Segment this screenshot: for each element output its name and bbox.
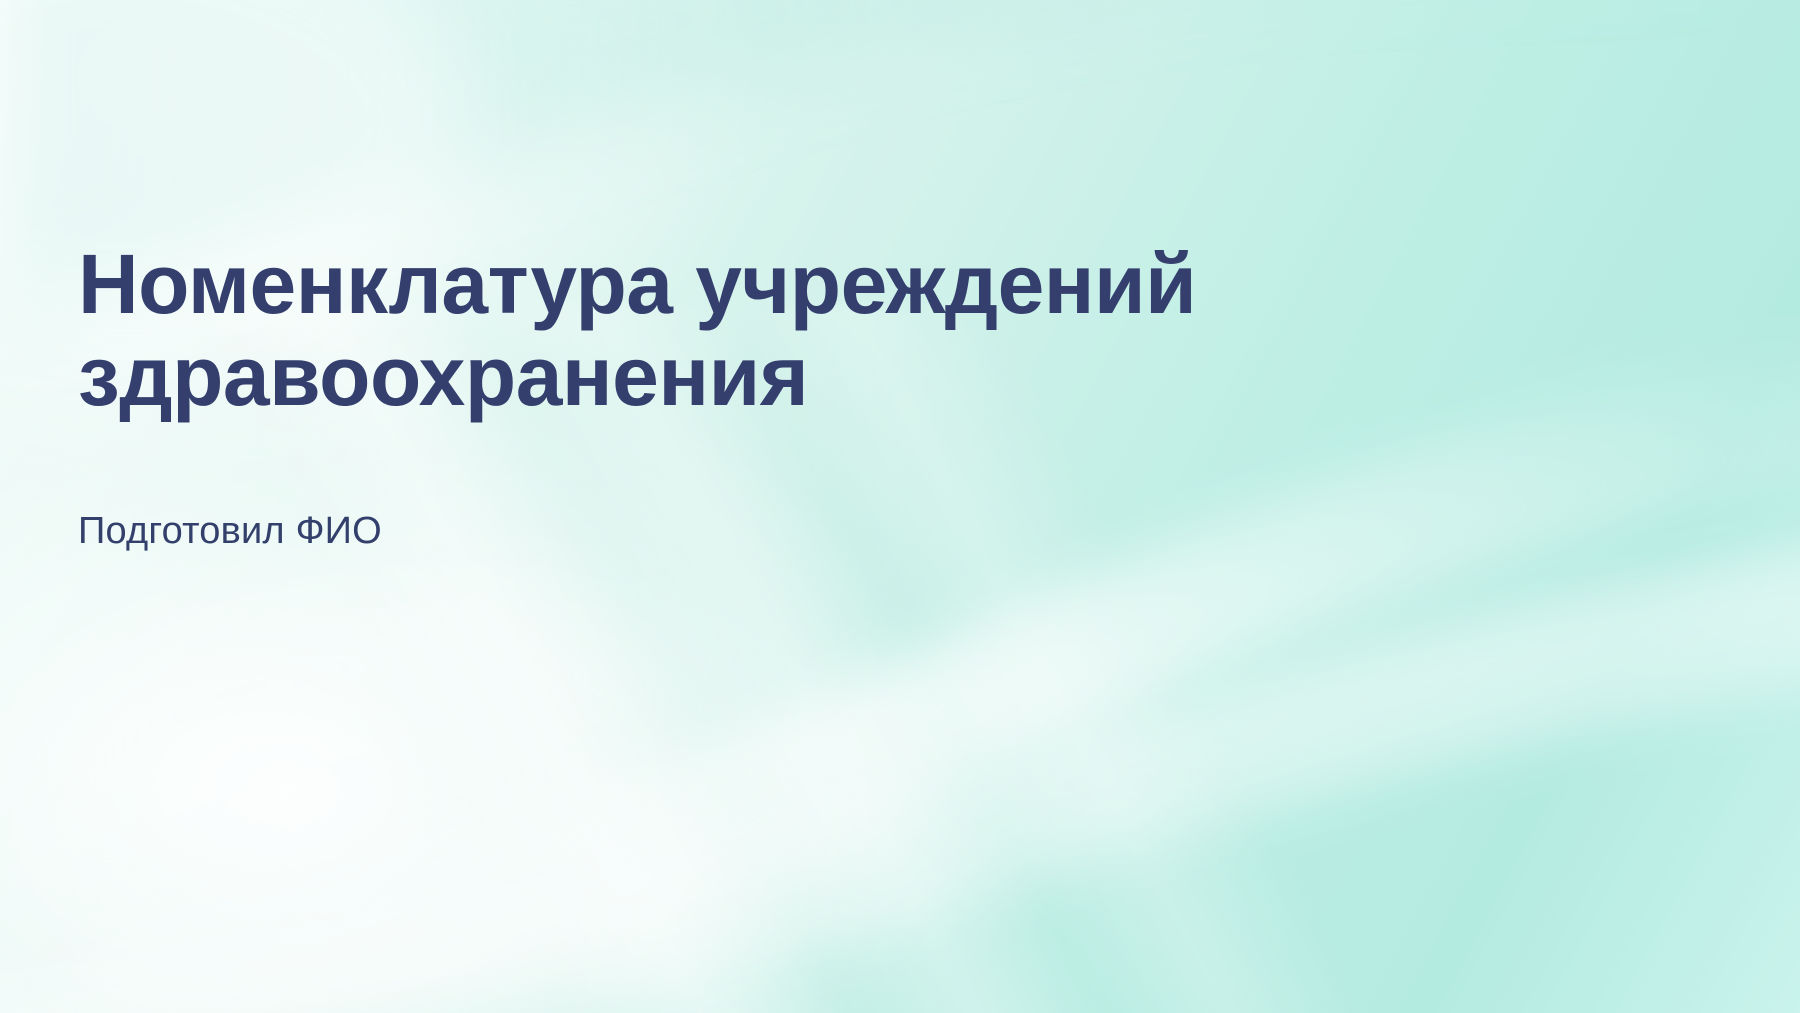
title-slide: Номенклатура учреждений здравоохранения … — [0, 0, 1800, 1013]
wave-glow-pocket — [10, 590, 850, 1013]
slide-content: Номенклатура учреждений здравоохранения … — [78, 238, 1258, 554]
slide-subtitle: Подготовил ФИО — [78, 423, 1258, 555]
slide-title: Номенклатура учреждений здравоохранения — [78, 238, 1258, 423]
wave-bottom-sweep — [0, 540, 1800, 1013]
